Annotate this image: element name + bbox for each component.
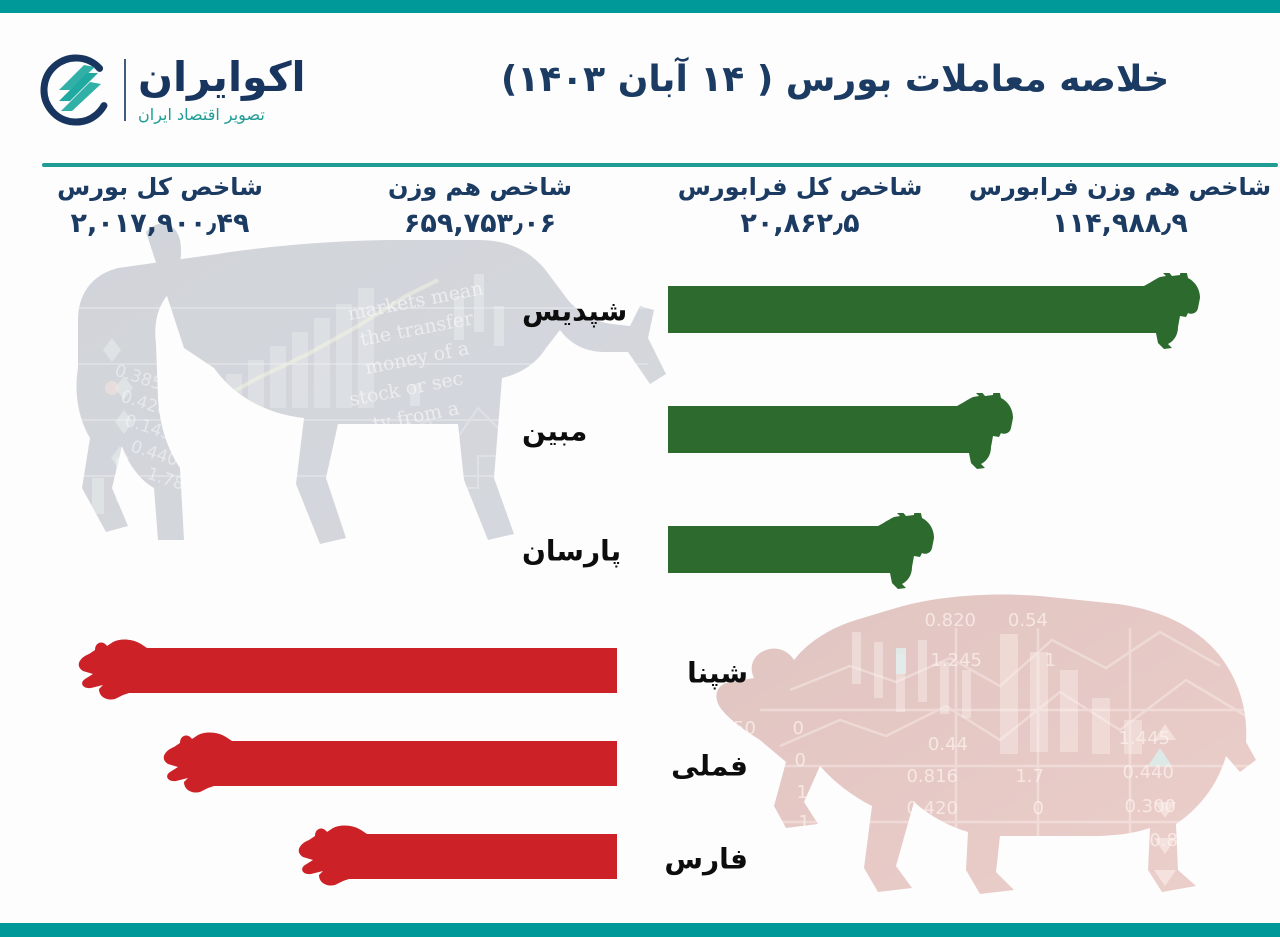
gain-bar-bull-icon[interactable] [668,513,954,589]
header: اکوایران تصویر اقتصاد ایران خلاصه معاملا… [0,13,1280,152]
bar-row-mobin[interactable]: مبین [0,388,1280,474]
stat-hamvazn-farabourse: شاخص هم وزن فرابورس ۱۱۴,۹۸۸٫۹ [960,172,1280,254]
bar-row-fars[interactable]: فارس [0,816,1280,902]
stat-value: ۲,۰۱۷,۹۰۰٫۴۹ [0,208,320,239]
brand-logo[interactable]: اکوایران تصویر اقتصاد ایران [40,47,370,133]
stat-kol-farabourse: شاخص کل فرابورس ۲۰,۸۶۲٫۵ [640,172,960,254]
stat-label: شاخص هم وزن فرابورس [960,172,1280,202]
bar-label: فملی [628,750,748,783]
stat-label: شاخص کل بورس [0,172,320,202]
impact-bar-chart: شپدیس مبین پارسان شپنا فملی فارس [0,268,1280,908]
bar-label: شپنا [628,657,748,690]
brand-name: اکوایران [138,56,306,99]
bar-row-parsan[interactable]: پارسان [0,508,1280,594]
bar-label: مبین [522,415,642,448]
header-divider [42,163,1278,167]
gain-bar-bull-icon[interactable] [668,393,1033,469]
top-accent-bar [0,0,1280,13]
bar-label: شپدیس [522,295,642,328]
bar-row-shepdis[interactable]: شپدیس [0,268,1280,354]
stat-value: ۲۰,۸۶۲٫۵ [640,208,960,239]
bar-row-shepna[interactable]: شپنا [0,630,1280,716]
eco-iran-logo-icon [40,54,112,126]
page-title: خلاصه معاملات بورس ( ۱۴ آبان ۱۴۰۳) [430,59,1240,100]
index-stats-row: شاخص هم وزن فرابورس ۱۱۴,۹۸۸٫۹ شاخص کل فر… [0,172,1280,254]
infographic-canvas: 0.385 0.420 0.145 0.440 1.78 0.420 1.245… [0,0,1280,937]
brand-tagline: تصویر اقتصاد ایران [138,105,265,124]
loss-bar-bear-icon[interactable] [75,635,617,711]
stat-hamvazn: شاخص هم وزن ۶۵۹,۷۵۳٫۰۶ [320,172,640,254]
bar-label: فارس [628,843,748,876]
bottom-accent-bar [0,923,1280,937]
logo-divider [124,59,126,121]
bar-label: پارسان [522,535,642,568]
loss-bar-bear-icon[interactable] [160,728,617,804]
bar-row-femeli[interactable]: فملی [0,723,1280,809]
stat-label: شاخص هم وزن [320,172,640,202]
stat-label: شاخص کل فرابورس [640,172,960,202]
loss-bar-bear-icon[interactable] [295,821,617,897]
gain-bar-bull-icon[interactable] [668,273,1220,349]
stat-value: ۱۱۴,۹۸۸٫۹ [960,208,1280,239]
stat-value: ۶۵۹,۷۵۳٫۰۶ [320,208,640,239]
stat-kol-bourse: شاخص کل بورس ۲,۰۱۷,۹۰۰٫۴۹ [0,172,320,254]
